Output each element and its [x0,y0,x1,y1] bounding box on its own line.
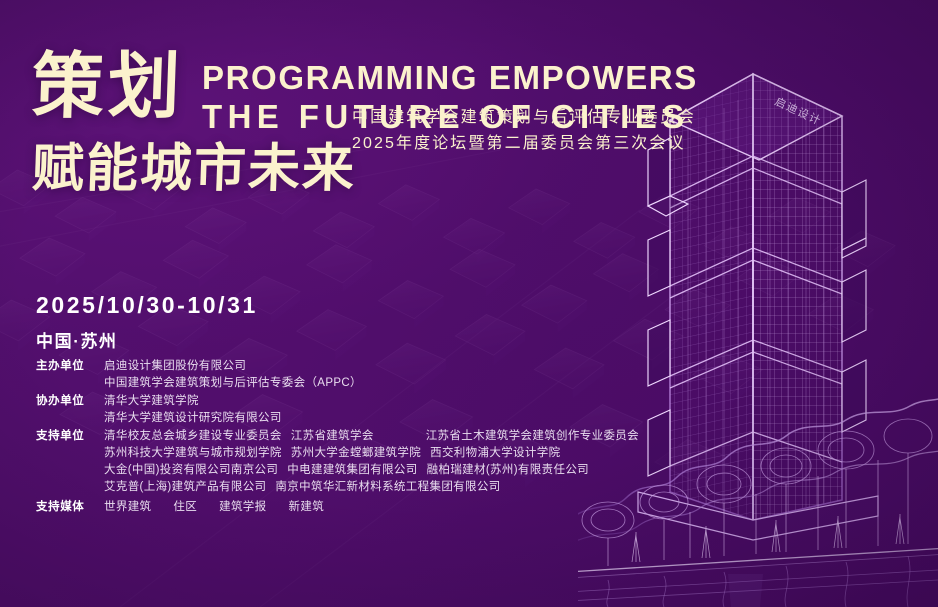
credit-label: 支持媒体 [36,499,92,516]
credit-item: 建筑学报 [219,499,266,516]
credit-row: 主办单位启迪设计集团股份有限公司中国建筑学会建筑策划与后评估专委会（APPC） [36,358,716,392]
credit-line: 中国建筑学会建筑策划与后评估专委会（APPC） [104,375,716,392]
credit-item: 江苏省建筑学会 [291,428,374,445]
credit-item: 中国建筑学会建筑策划与后评估专委会（APPC） [104,375,362,392]
credit-item: 清华校友总会城乡建设专业委员会 [104,428,282,445]
credit-values: 启迪设计集团股份有限公司中国建筑学会建筑策划与后评估专委会（APPC） [104,358,716,392]
credits-block: 主办单位启迪设计集团股份有限公司中国建筑学会建筑策划与后评估专委会（APPC）协… [36,358,716,517]
credit-values: 清华校友总会城乡建设专业委员会江苏省建筑学会江苏省土木建筑学会建筑创作专业委员会… [104,428,716,496]
credit-item: 西交利物浦大学设计学院 [430,445,560,462]
credit-item: 清华大学建筑设计研究院有限公司 [104,410,282,427]
credit-row: 支持媒体世界建筑住区建筑学报新建筑 [36,499,716,516]
credit-row: 支持单位清华校友总会城乡建设专业委员会江苏省建筑学会江苏省土木建筑学会建筑创作专… [36,428,716,496]
credit-item: 清华大学建筑学院 [104,393,199,410]
credit-item: 大金(中国)投资有限公司南京公司 [104,462,278,479]
credit-item: 苏州科技大学建筑与城市规划学院 [104,445,282,462]
credit-item: 艾克普(上海)建筑产品有限公司 [104,479,266,496]
conference-poster: 启迪设计 [0,0,938,607]
credit-item: 新建筑 [289,499,325,516]
credit-item: 住区 [173,499,197,516]
credit-values: 世界建筑住区建筑学报新建筑 [104,499,716,516]
credit-line: 大金(中国)投资有限公司南京公司中电建建筑集团有限公司融柏瑞建材(苏州)有限责任… [104,462,716,479]
building-signage: 启迪设计 [773,95,824,128]
credit-line: 清华大学建筑学院 [104,393,716,410]
credit-label: 主办单位 [36,358,92,375]
credit-row: 协办单位清华大学建筑学院清华大学建筑设计研究院有限公司 [36,393,716,427]
credit-line: 清华校友总会城乡建设专业委员会江苏省建筑学会江苏省土木建筑学会建筑创作专业委员会 [104,428,716,445]
credit-line: 清华大学建筑设计研究院有限公司 [104,410,716,427]
event-location: 中国·苏州 [36,327,258,352]
credit-line: 艾克普(上海)建筑产品有限公司南京中筑华汇新材料系统工程集团有限公司 [104,479,716,496]
credit-line: 启迪设计集团股份有限公司 [104,358,716,375]
credit-item: 江苏省土木建筑学会建筑创作专业委员会 [426,428,639,445]
credit-label: 支持单位 [36,428,92,445]
title-english-line1: PROGRAMMING EMPOWERS [202,60,698,97]
credit-item: 南京中筑华汇新材料系统工程集团有限公司 [275,479,500,496]
subtitle-block: 中国建筑学会建筑策划与后评估专业委员会 2025年度论坛暨第二届委员会第三次会议 [352,105,696,157]
credit-item: 启迪设计集团股份有限公司 [104,358,246,375]
event-date-block: 2025/10/30-10/31 中国·苏州 [36,292,258,352]
building-sign-text: 启迪设计 [773,95,824,128]
title-chinese-main: 策划 [31,52,185,120]
credit-item: 融柏瑞建材(苏州)有限责任公司 [427,462,589,479]
credit-label: 协办单位 [36,393,92,410]
credit-line: 苏州科技大学建筑与城市规划学院苏州大学金螳螂建筑学院西交利物浦大学设计学院 [104,445,716,462]
subtitle-line1: 中国建筑学会建筑策划与后评估专业委员会 [352,105,696,131]
credit-line: 世界建筑住区建筑学报新建筑 [104,499,716,516]
subtitle-line2: 2025年度论坛暨第二届委员会第三次会议 [352,131,696,157]
credit-item: 中电建建筑集团有限公司 [287,462,417,479]
credit-item: 苏州大学金螳螂建筑学院 [291,445,421,462]
credit-values: 清华大学建筑学院清华大学建筑设计研究院有限公司 [104,393,716,427]
event-date: 2025/10/30-10/31 [36,292,258,319]
credit-item: 世界建筑 [104,499,151,516]
